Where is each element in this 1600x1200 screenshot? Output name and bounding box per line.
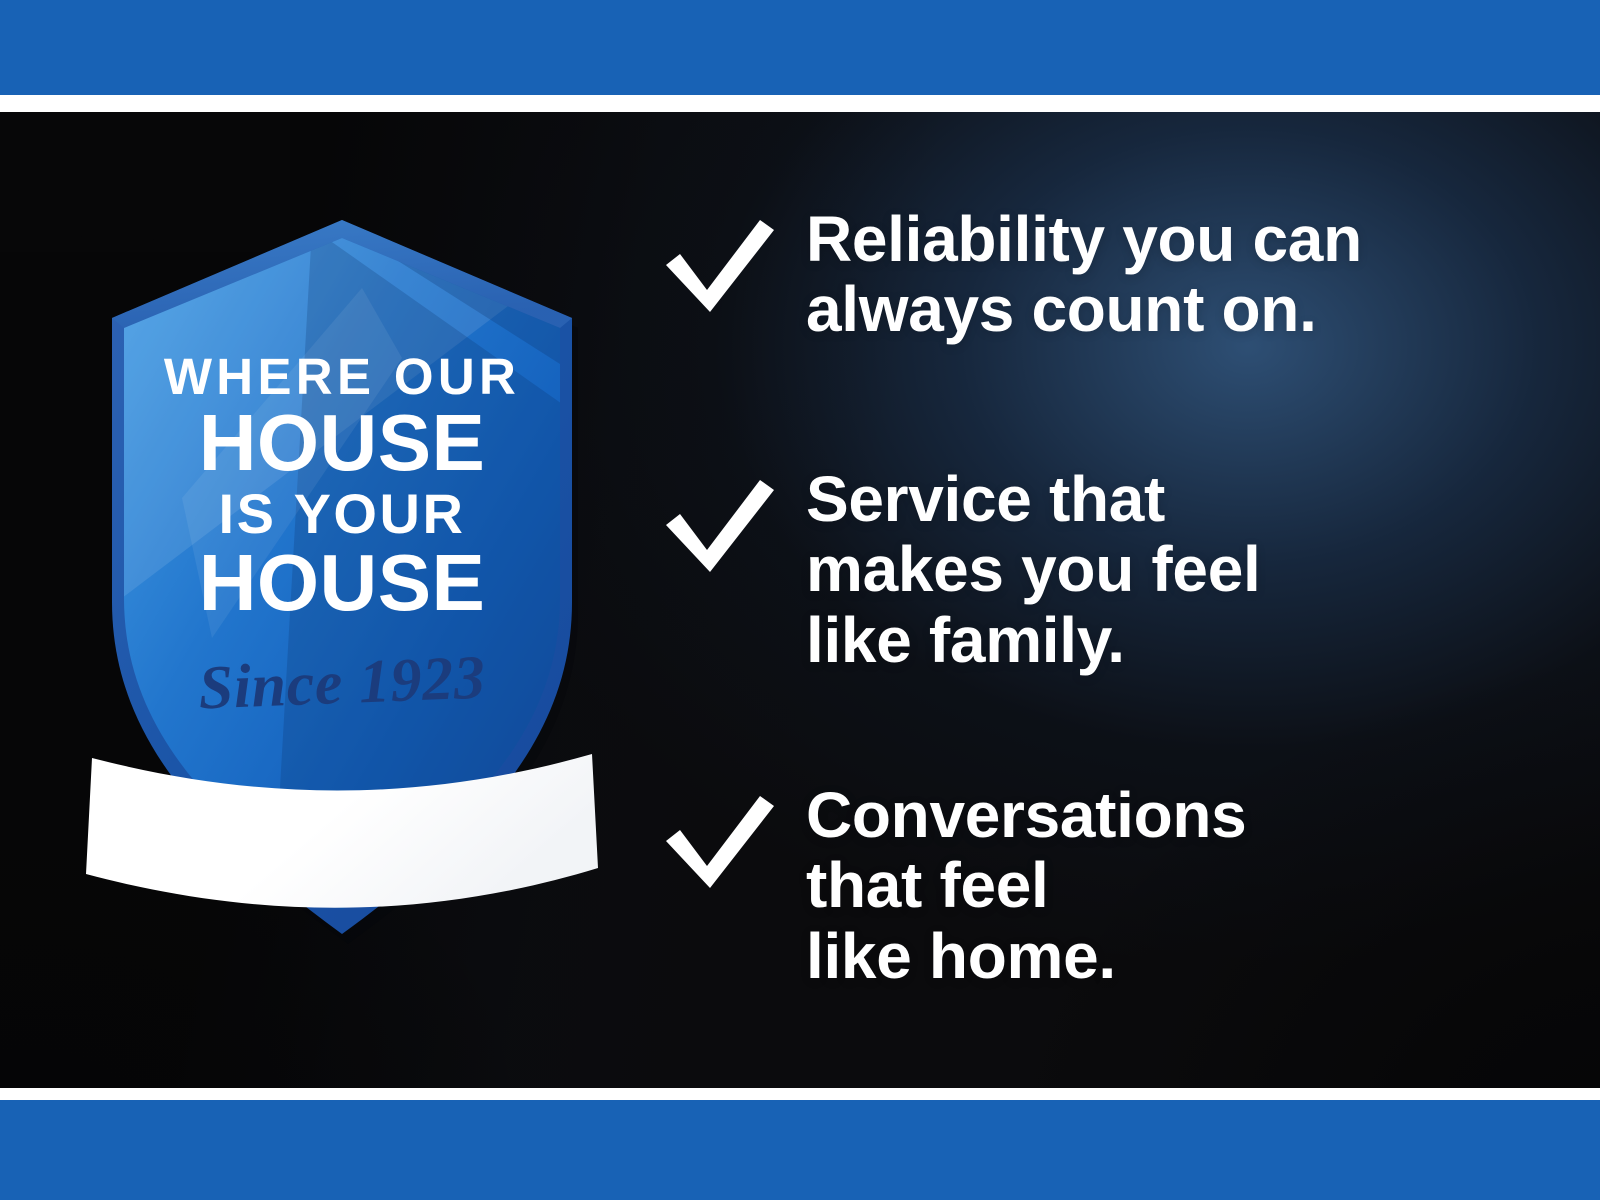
promo-graphic: WHERE OUR HOUSE IS YOUR HOUSE Since 1923… [0, 0, 1600, 1200]
bottom-white-rule [0, 1088, 1600, 1100]
benefit-text-1: Reliability you can always count on. [806, 204, 1362, 345]
benefit-item-1: Reliability you can always count on. [660, 204, 1362, 345]
shield-badge: WHERE OUR HOUSE IS YOUR HOUSE Since 1923 [62, 168, 622, 958]
benefit-text-3: Conversations that feel like home. [806, 780, 1246, 991]
benefit-item-3: Conversations that feel like home. [660, 780, 1246, 991]
top-brand-band [0, 0, 1600, 95]
benefit-item-2: Service that makes you feel like family. [660, 464, 1260, 675]
benefit-text-2: Service that makes you feel like family. [806, 464, 1260, 675]
bottom-brand-band [0, 1100, 1600, 1200]
check-icon [660, 474, 778, 578]
top-white-rule [0, 95, 1600, 112]
check-icon [660, 214, 778, 318]
check-icon [660, 790, 778, 894]
benefits-list: Reliability you can always count on. Ser… [660, 112, 1540, 1088]
